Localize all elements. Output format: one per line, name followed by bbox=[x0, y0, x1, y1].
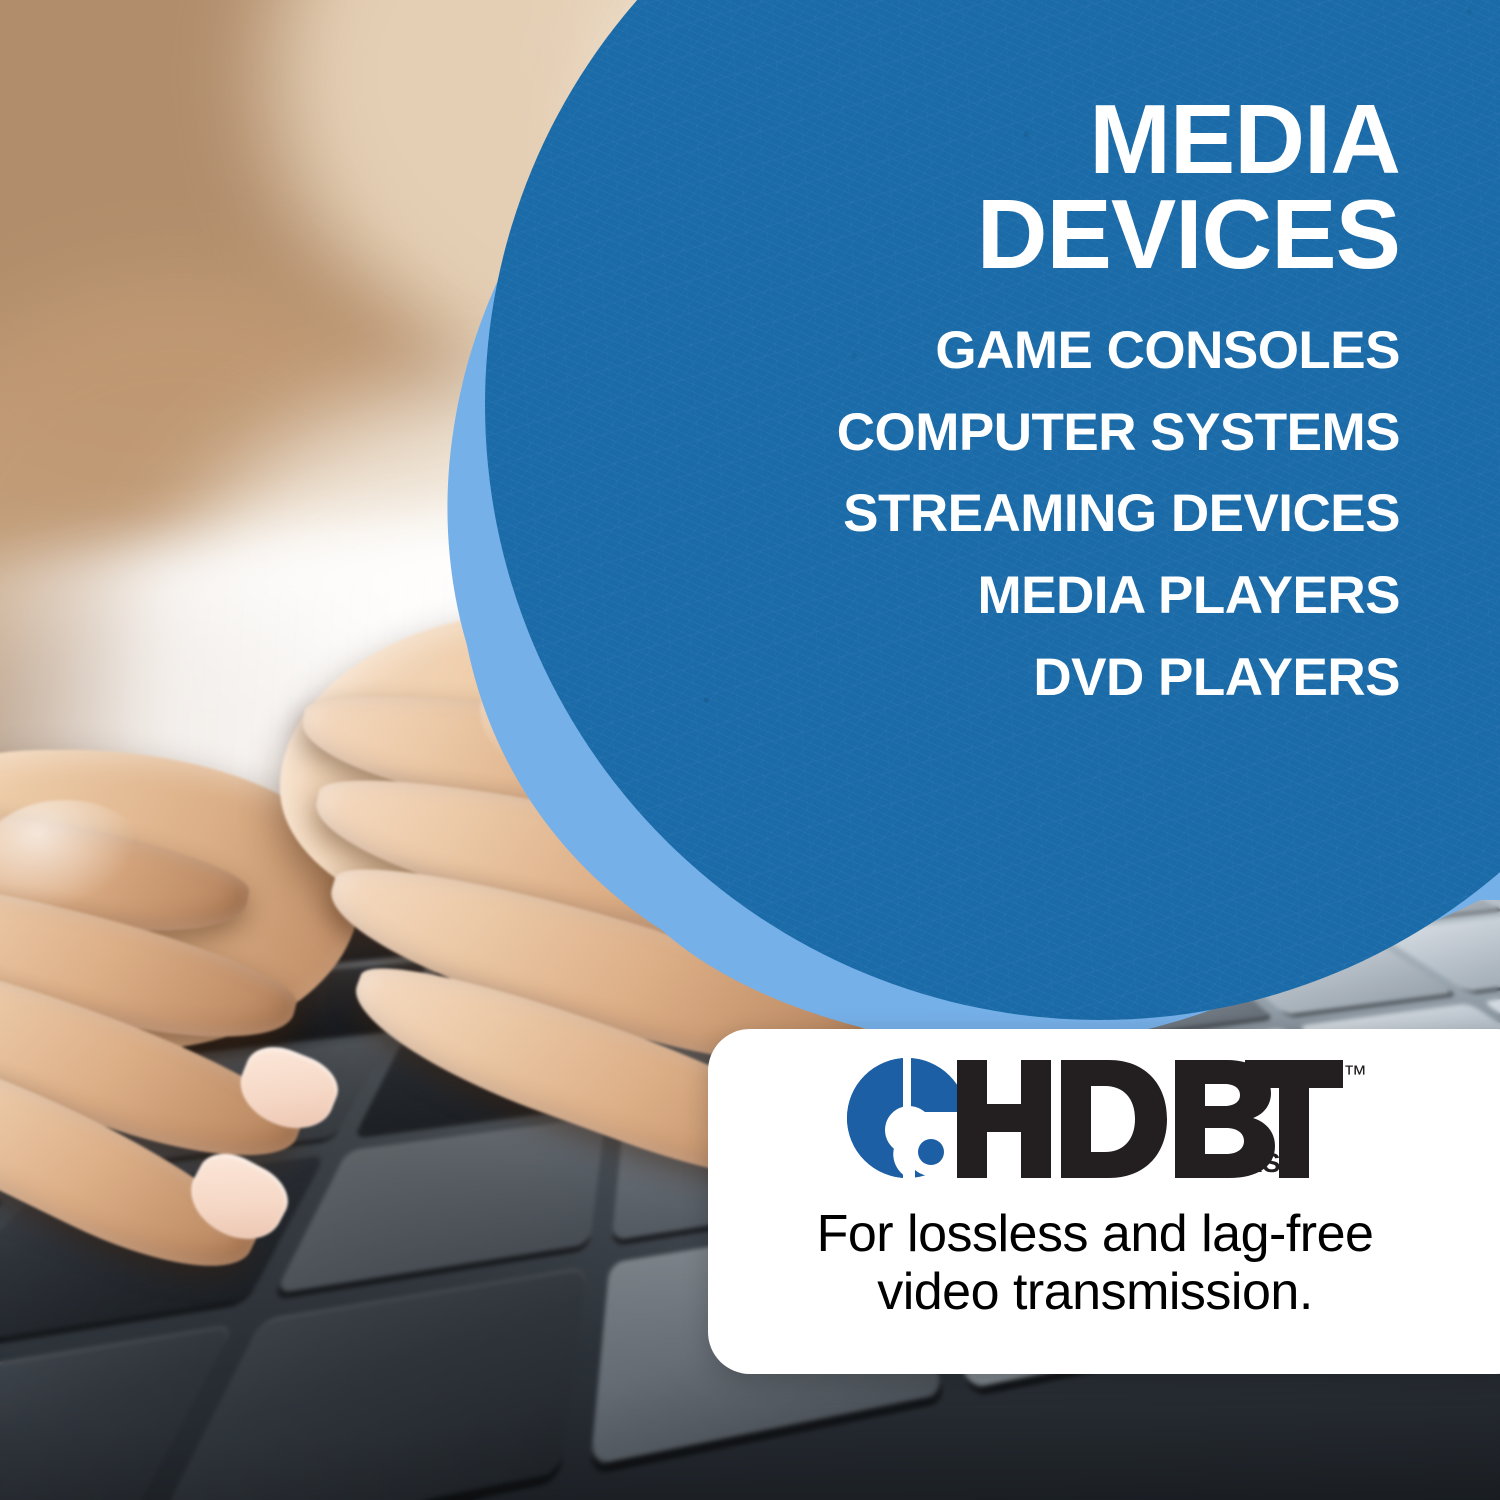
tagline: For lossless and lag-free video transmis… bbox=[708, 1205, 1482, 1321]
device-list-item: STREAMING DEVICES bbox=[640, 473, 1400, 555]
hdbaset-logo: ASE ™ bbox=[708, 1053, 1500, 1183]
wordmark-sub-ase: ASE bbox=[1243, 1148, 1299, 1178]
page-title: MEDIA DEVICES bbox=[640, 92, 1400, 282]
hdbaset-logo-card: ASE ™ For lossless and lag-free video tr… bbox=[708, 1029, 1500, 1374]
device-list-item: GAME CONSOLES bbox=[640, 310, 1400, 392]
hdbaset-circle-hook-icon bbox=[847, 1054, 971, 1180]
device-list-item: COMPUTER SYSTEMS bbox=[640, 392, 1400, 474]
tagline-line-2: video transmission. bbox=[708, 1263, 1482, 1321]
hdbaset-wordmark-svg: ASE ™ bbox=[845, 1052, 1375, 1184]
device-list: GAME CONSOLES COMPUTER SYSTEMS STREAMING… bbox=[640, 310, 1400, 718]
poster-canvas: MEDIA DEVICES GAME CONSOLES COMPUTER SYS… bbox=[0, 0, 1500, 1500]
tagline-line-1: For lossless and lag-free bbox=[817, 1205, 1374, 1263]
title-line-2: DEVICES bbox=[640, 187, 1400, 282]
headline-block: MEDIA DEVICES GAME CONSOLES COMPUTER SYS… bbox=[640, 92, 1400, 718]
device-list-item: MEDIA PLAYERS bbox=[640, 555, 1400, 637]
title-line-1: MEDIA bbox=[640, 92, 1400, 187]
trademark-symbol: ™ bbox=[1343, 1061, 1367, 1088]
device-list-item: DVD PLAYERS bbox=[640, 637, 1400, 719]
